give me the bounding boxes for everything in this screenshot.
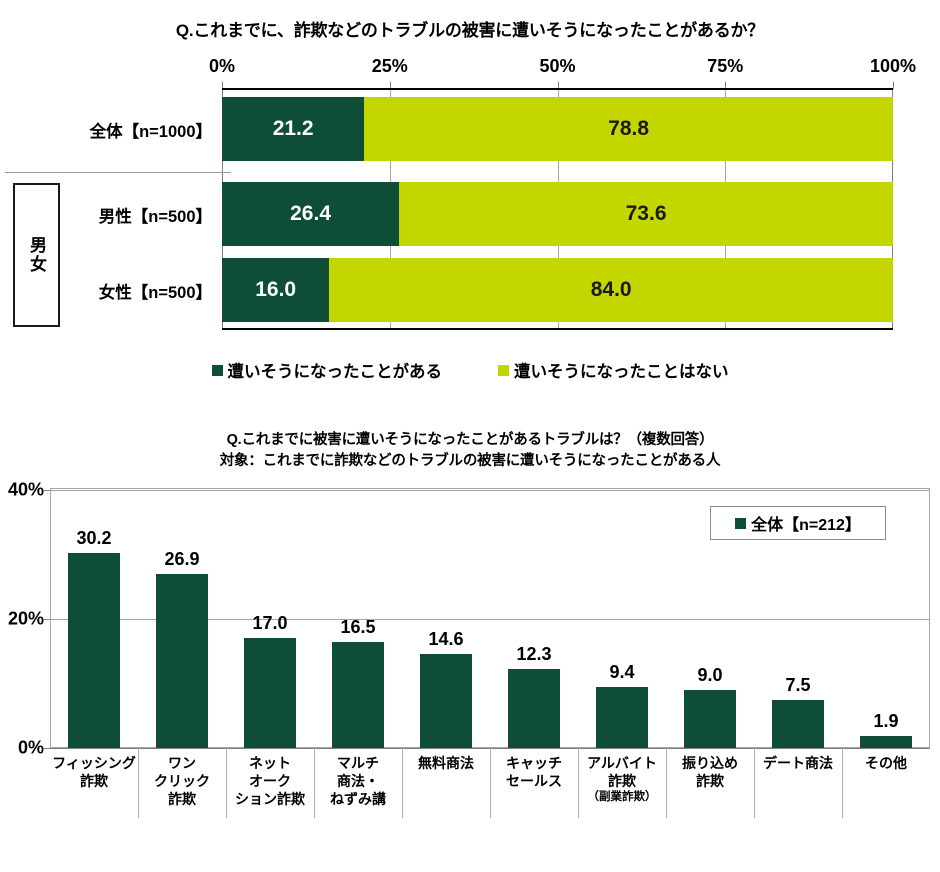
chart1-segment-no: 78.8 [364,97,893,161]
chart2-category-line: 詐欺 [578,772,666,790]
chart2-bar-value-label: 16.5 [318,617,398,638]
chart2-category-line: ワン [138,754,226,772]
chart1-xtick-label: 100% [870,56,916,77]
chart1-bar-row: 21.278.8 [222,97,893,161]
chart2-category-label: デート商法 [754,754,842,772]
chart1-legend-label: 遭いそうになったことはない [514,358,729,382]
chart1-row-label: 女性【n=500】 [62,279,212,303]
chart1-bar-row: 16.084.0 [222,258,893,322]
legend-swatch-icon [498,365,509,376]
legend-swatch-icon [735,518,746,529]
chart2-category-line: オーク [226,772,314,790]
chart2-category-sublabel: （副業詐欺） [578,790,666,805]
chart2-category-line: デート商法 [754,754,842,772]
chart2-title-line1: Q.これまでに被害に遭いそうになったことがあるトラブルは？（複数回答） [0,430,940,451]
chart2-category-line: 無料商法 [402,754,490,772]
chart2-category-line: 商法・ [314,772,402,790]
chart2-ytick-label: 20% [0,609,44,630]
chart2-category-label: 振り込め詐欺 [666,754,754,790]
chart2-bar [244,638,296,748]
chart1-row-label: 全体【n=1000】 [62,118,212,142]
chart1-title: Q.これまでに、詐欺などのトラブルの被害に遭いそうになったことがあるか？ [0,16,940,41]
chart2-category-label: ネットオークション詐欺 [226,754,314,808]
chart1-segment-yes: 16.0 [222,258,329,322]
chart2-bar [508,669,560,748]
chart2-bar [68,553,120,748]
chart2-bar-value-label: 9.4 [582,662,662,683]
chart2-category-line: 詐欺 [50,772,138,790]
chart2-category-line: ション詐欺 [226,790,314,808]
chart2-gridline [50,490,930,491]
chart2-bar [860,736,912,748]
chart2-category-label: その他 [842,754,930,772]
chart2-category-line: キャッチ [490,754,578,772]
chart1-bar-row: 26.473.6 [222,182,893,246]
chart2-bar-value-label: 26.9 [142,549,222,570]
chart1-legend-label: 遭いそうになったことがある [228,358,443,382]
chart1-group-separator [5,172,231,173]
chart2-category-line: アルバイト [578,754,666,772]
chart2-bar [772,700,824,748]
chart1-segment-yes: 21.2 [222,97,364,161]
chart2-legend-label: 全体【n=212】 [751,511,861,535]
chart1-xtick-label: 75% [707,56,743,77]
chart2-category-line: その他 [842,754,930,772]
chart1-legend-item: 遭いそうになったことがある [212,358,443,382]
chart2-category-label: ワンクリック詐欺 [138,754,226,808]
chart2-title: Q.これまでに被害に遭いそうになったことがあるトラブルは？（複数回答） 対象：こ… [0,430,940,472]
chart2-bar-value-label: 17.0 [230,613,310,634]
chart1-bottom-line [222,328,893,330]
legend-swatch-icon [212,365,223,376]
chart2-ytick-label: 40% [0,480,44,501]
chart2-bar [420,654,472,748]
chart2-bar [332,642,384,748]
chart2-bar [596,687,648,748]
chart2-category-label: フィッシング詐欺 [50,754,138,790]
chart2-bar-value-label: 1.9 [846,711,926,732]
chart2-category-line: ねずみ講 [314,790,402,808]
chart1-xtick-label: 25% [372,56,408,77]
chart2-category-separator [314,748,315,818]
chart2-category-separator [842,748,843,818]
chart2-category-separator [402,748,403,818]
chart2-category-line: マルチ [314,754,402,772]
chart2-category-line: フィッシング [50,754,138,772]
chart1-xtick-label: 50% [539,56,575,77]
chart2-bar-value-label: 14.6 [406,629,486,650]
chart2-category-separator [138,748,139,818]
chart2-legend: 全体【n=212】 [710,506,886,540]
chart2-category-line: 詐欺 [666,772,754,790]
chart2-category-line: セールス [490,772,578,790]
chart2-bar-value-label: 9.0 [670,665,750,686]
chart1-legend: 遭いそうになったことがある遭いそうになったことはない [0,358,940,382]
chart2-ytick [44,619,50,620]
chart2-bar [156,574,208,748]
chart2-bar-value-label: 7.5 [758,675,838,696]
chart2-category-label: アルバイト詐欺（副業詐欺） [578,754,666,805]
chart1-row-label: 男性【n=500】 [62,203,212,227]
chart1-segment-yes: 26.4 [222,182,399,246]
chart2-category-line: ネット [226,754,314,772]
chart1-x-axis-labels: 0%25%50%75%100% [0,56,940,80]
chart2-bar-value-label: 30.2 [54,528,134,549]
chart2-category-line: 詐欺 [138,790,226,808]
chart2-bar-value-label: 12.3 [494,644,574,665]
survey-infographic: Q.これまでに、詐欺などのトラブルの被害に遭いそうになったことがあるか？ 0%2… [0,0,940,872]
chart2-category-separator [490,748,491,818]
chart2-category-line: クリック [138,772,226,790]
chart2-category-line: 振り込め [666,754,754,772]
chart1-xtick-label: 0% [209,56,235,77]
chart1-segment-no: 84.0 [329,258,893,322]
chart1-group-label: 男女 [24,236,49,274]
chart2-ytick [44,490,50,491]
chart2-title-line2: 対象：これまでに詐欺などのトラブルの被害に遭いそうになったことがある人 [0,451,940,472]
chart2-category-separator [578,748,579,818]
chart2-category-separator [226,748,227,818]
chart2-ytick-label: 0% [0,738,44,759]
chart2-category-separator [666,748,667,818]
chart1-group-box: 男女 [13,183,60,327]
chart2-category-label: 無料商法 [402,754,490,772]
chart2-category-label: マルチ商法・ねずみ講 [314,754,402,808]
chart1-segment-no: 73.6 [399,182,893,246]
chart2-bar [684,690,736,748]
chart2-category-separator [754,748,755,818]
chart1-legend-item: 遭いそうになったことはない [498,358,729,382]
chart2-category-label: キャッチセールス [490,754,578,790]
